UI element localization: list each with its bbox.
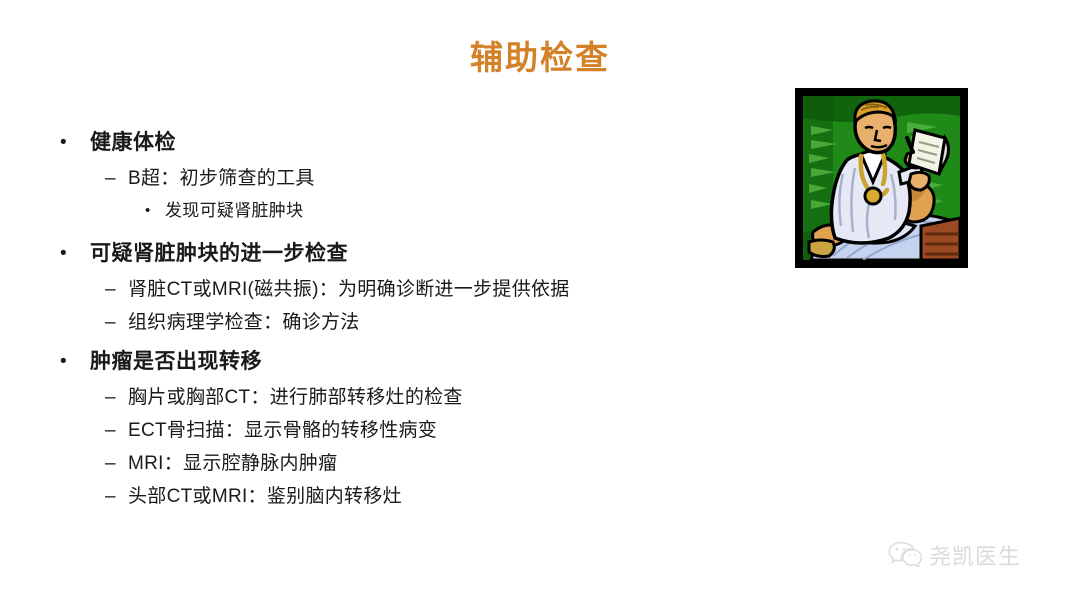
bullet-marker-dash: –: [52, 164, 128, 194]
list-item: • 肿瘤是否出现转移: [52, 347, 752, 381]
bullet-list: • 健康体检 – B超：初步筛查的工具 • 发现可疑肾脏肿块 • 可疑肾脏肿块的…: [52, 128, 752, 515]
list-item-label: 发现可疑肾脏肿块: [165, 197, 303, 225]
list-item-label: 健康体检: [90, 128, 176, 158]
bullet-marker-dash: –: [52, 275, 128, 305]
doctor-illustration-svg: [803, 96, 960, 260]
list-item: – MRI：显示腔静脉内肿瘤: [52, 449, 752, 482]
list-item: – B超：初步筛查的工具: [52, 164, 752, 197]
list-item-label: 肿瘤是否出现转移: [90, 347, 262, 377]
bullet-marker-dot: •: [52, 239, 90, 269]
list-item: – 头部CT或MRI：鉴别脑内转移灶: [52, 482, 752, 515]
doctor-examining-patient-image: [795, 88, 968, 268]
watermark: 尧凯医生: [888, 541, 1021, 572]
list-item: • 可疑肾脏肿块的进一步检查: [52, 239, 752, 273]
list-item: – 组织病理学检查：确诊方法: [52, 308, 752, 341]
list-item-label: 头部CT或MRI：鉴别脑内转移灶: [128, 482, 402, 512]
bullet-marker-dash: –: [52, 308, 128, 338]
list-item-label: B超：初步筛查的工具: [128, 164, 315, 194]
list-item: – ECT骨扫描：显示骨骼的转移性病变: [52, 416, 752, 449]
bullet-marker-dash: –: [52, 416, 128, 446]
list-item-label: 可疑肾脏肿块的进一步检查: [90, 239, 348, 269]
bullet-marker-dot: •: [52, 347, 90, 377]
bullet-marker-dash: –: [52, 482, 128, 512]
illustration-canvas: [803, 96, 960, 260]
list-item-label: 组织病理学检查：确诊方法: [128, 308, 360, 338]
list-item: – 胸片或胸部CT：进行肺部转移灶的检查: [52, 383, 752, 416]
wechat-icon: [888, 541, 922, 572]
bullet-marker-dot: •: [52, 128, 90, 158]
list-item-label: ECT骨扫描：显示骨骼的转移性病变: [128, 416, 437, 446]
bullet-marker-dash: –: [52, 383, 128, 413]
list-item: • 发现可疑肾脏肿块: [52, 197, 752, 228]
section-spacer: [52, 228, 752, 239]
list-item: – 肾脏CT或MRI(磁共振)：为明确诊断进一步提供依据: [52, 275, 752, 308]
page-title: 辅助检查: [0, 38, 1080, 78]
list-item-label: MRI：显示腔静脉内肿瘤: [128, 449, 337, 479]
list-item: • 健康体检: [52, 128, 752, 162]
watermark-label: 尧凯医生: [929, 544, 1021, 570]
bullet-marker-dash: –: [52, 449, 128, 479]
list-item-label: 胸片或胸部CT：进行肺部转移灶的检查: [128, 383, 463, 413]
list-item-label: 肾脏CT或MRI(磁共振)：为明确诊断进一步提供依据: [128, 275, 570, 305]
bullet-marker-dot: •: [52, 197, 165, 225]
